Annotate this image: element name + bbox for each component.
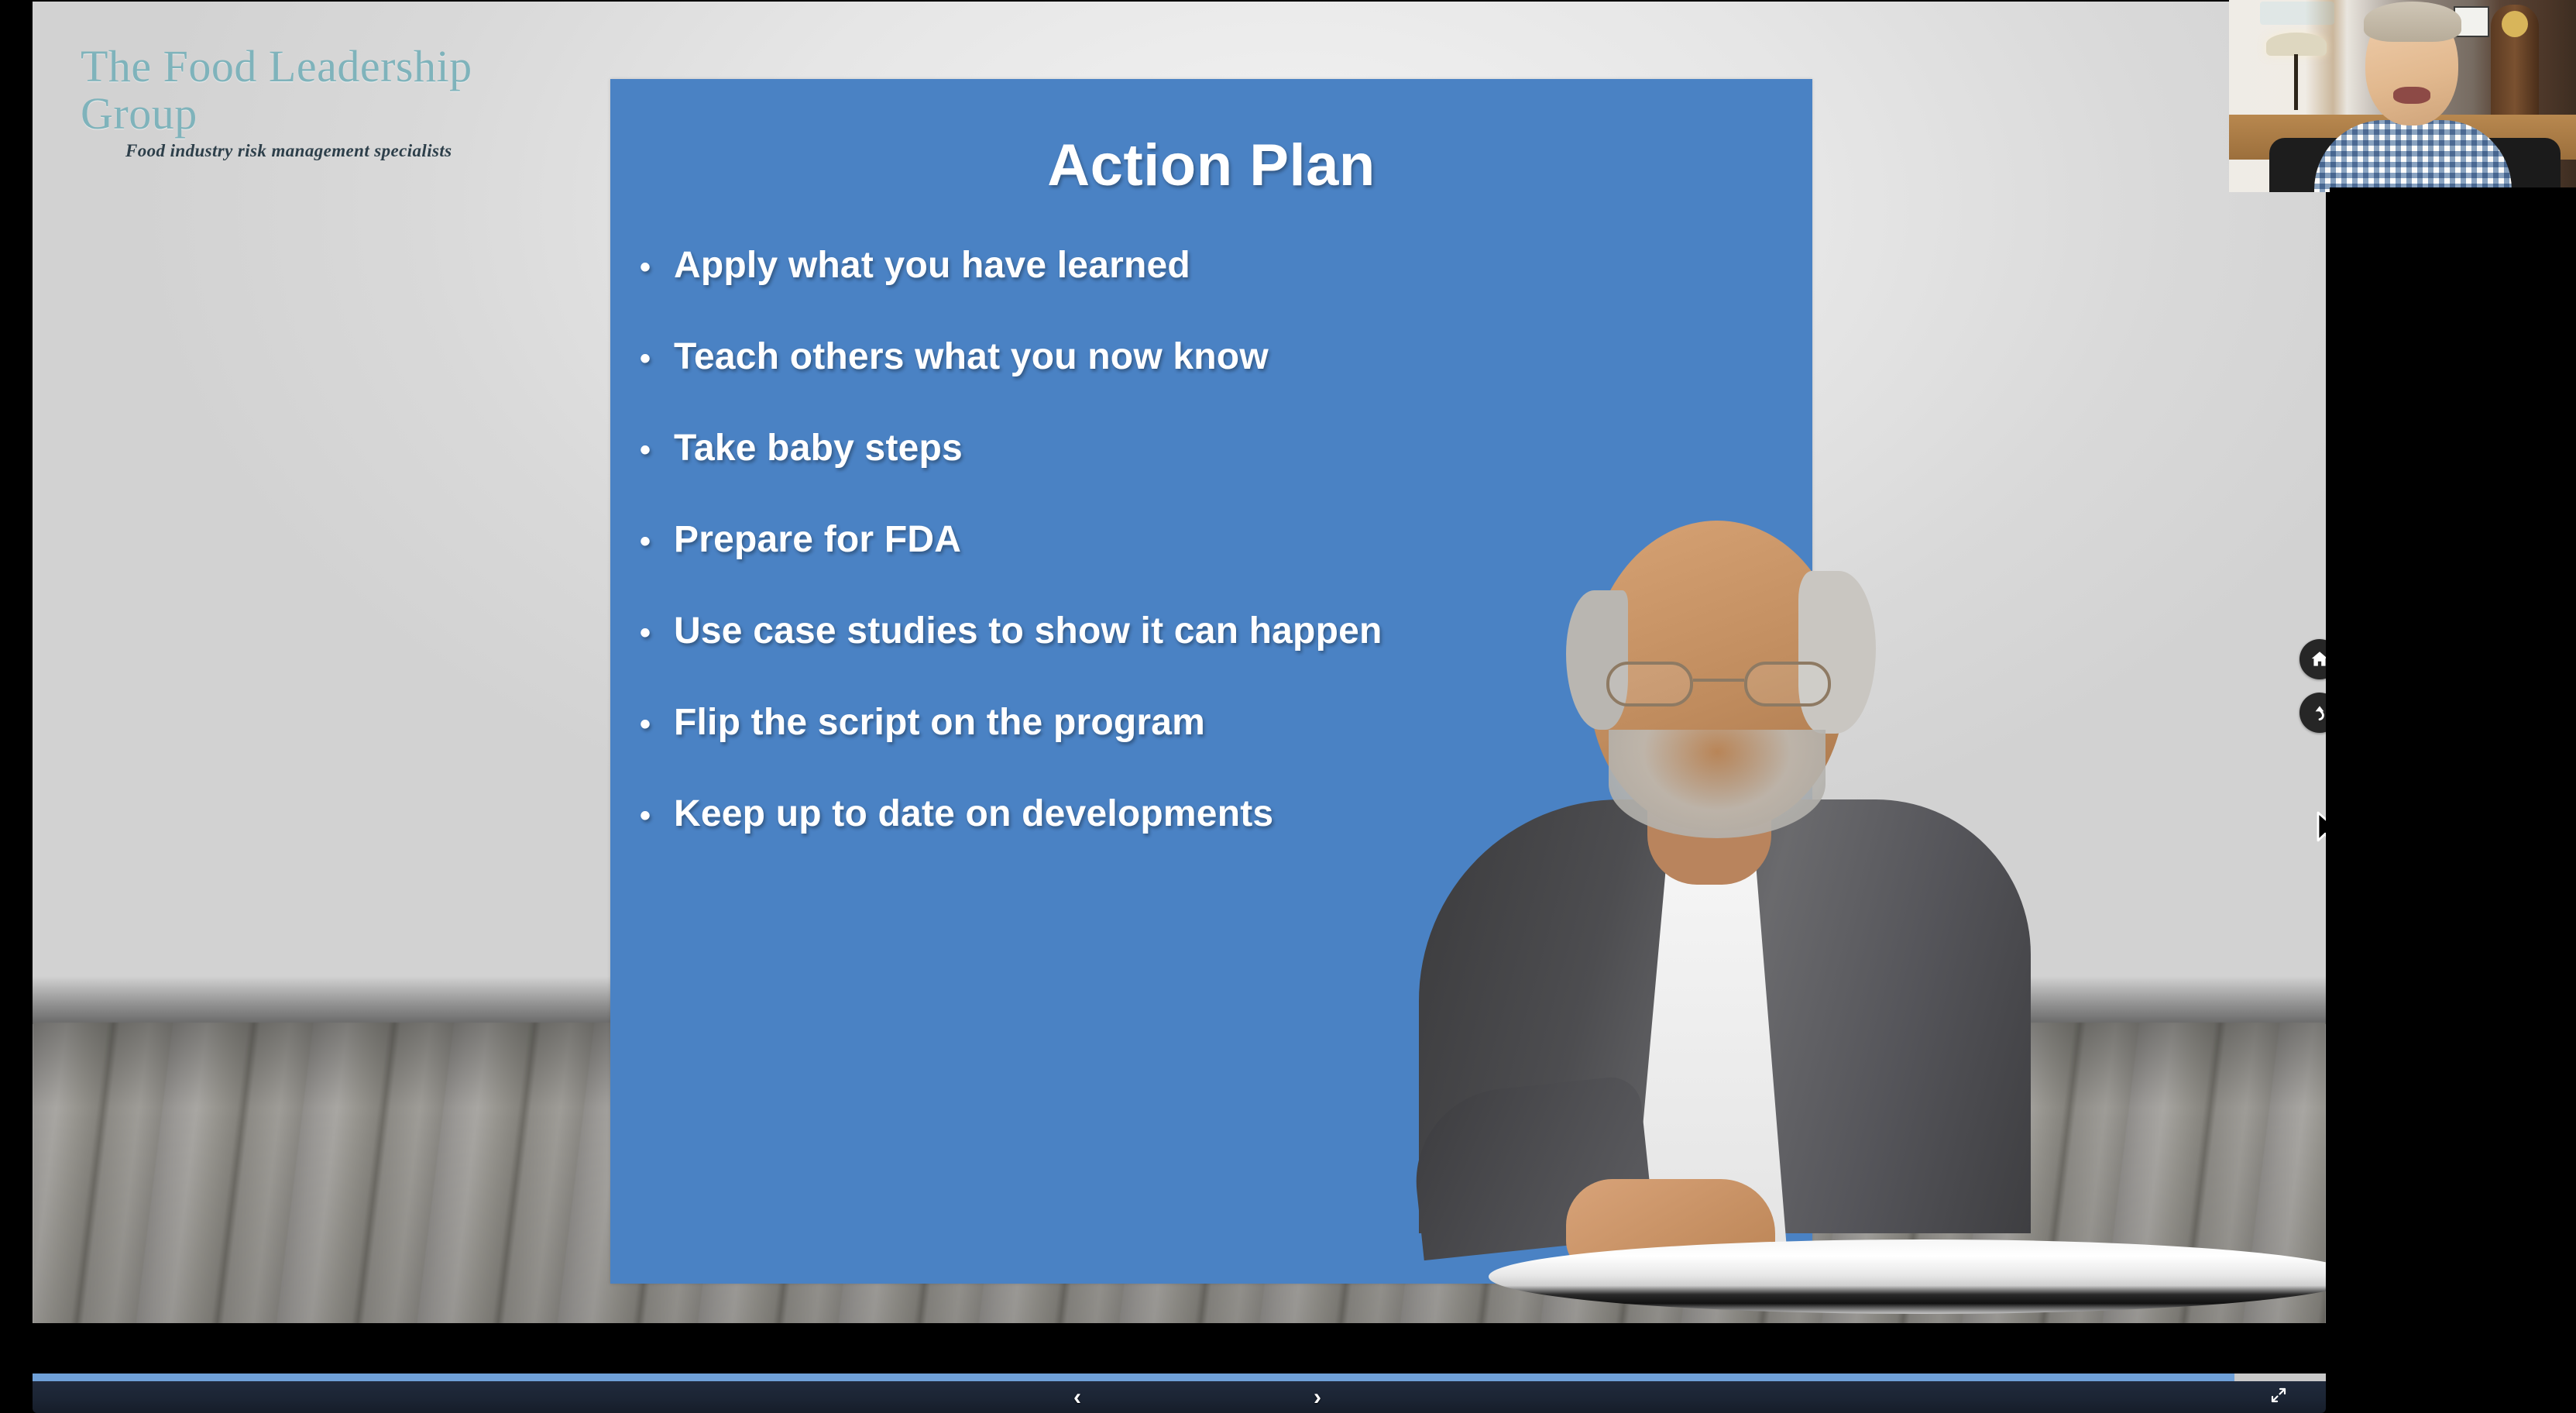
video-player-stage[interactable]: The Food Leadership Group Food industry … — [33, 2, 2326, 1323]
bullet-text: Flip the script on the program — [674, 701, 1205, 744]
next-slide-button[interactable]: › — [1295, 1381, 1340, 1413]
company-logo: The Food Leadership Group Food industry … — [81, 43, 561, 161]
bullet-dot-icon: • — [640, 343, 674, 374]
previous-slide-button[interactable]: ‹ — [1055, 1381, 1100, 1413]
bullet-text: Teach others what you now know — [674, 335, 1269, 378]
home-icon — [2310, 649, 2326, 669]
bullet-dot-icon: • — [640, 252, 674, 283]
bullet-item: • Take baby steps — [640, 427, 1812, 469]
video-progress-fill — [33, 1373, 2234, 1381]
bullet-text: Use case studies to show it can happen — [674, 610, 1382, 652]
webcam-pip-video[interactable] — [2229, 0, 2576, 192]
slide-title: Action Plan — [610, 132, 1812, 199]
screen-root: The Food Leadership Group Food industry … — [0, 0, 2576, 1413]
bullet-item: • Apply what you have learned — [640, 244, 1812, 287]
presenter-hair-right — [1798, 571, 1876, 734]
glasses-lens-left — [1606, 662, 1693, 706]
lamp-stem — [2294, 54, 2298, 110]
chevron-left-icon: ‹ — [1073, 1386, 1081, 1409]
bullet-dot-icon: • — [640, 617, 674, 648]
bullet-text: Keep up to date on developments — [674, 792, 1273, 835]
glasses-lens-right — [1744, 662, 1831, 706]
glasses-bridge — [1693, 679, 1744, 682]
fullscreen-button[interactable] — [2255, 1381, 2302, 1413]
glasses-icon — [1606, 662, 1831, 706]
grandfather-clock — [2491, 5, 2539, 129]
round-glass-table — [1489, 1239, 2326, 1323]
bullet-dot-icon: • — [640, 435, 674, 466]
bullet-dot-icon: • — [640, 526, 674, 557]
webcam-person-mouth — [2393, 87, 2430, 104]
table-top-surface — [1489, 1239, 2326, 1314]
curved-up-arrow-icon — [2310, 703, 2326, 723]
video-progress-bar[interactable] — [33, 1373, 2326, 1381]
logo-brand-text: The Food Leadership Group — [81, 43, 561, 138]
bullet-item: • Teach others what you now know — [640, 335, 1812, 378]
player-controls-bar: ‹ › — [33, 1381, 2326, 1413]
chevron-right-icon: › — [1314, 1386, 1321, 1409]
neon-sign — [2260, 2, 2334, 25]
logo-tagline-text: Food industry risk management specialist… — [81, 141, 561, 161]
fullscreen-expand-icon — [2269, 1386, 2288, 1408]
webcam-person-hair — [2364, 2, 2461, 42]
presenter-beard — [1609, 730, 1826, 838]
webcam-bottom-letterbox — [2330, 187, 2576, 192]
bullet-text: Apply what you have learned — [674, 244, 1190, 287]
presenter-hair-left — [1566, 590, 1628, 730]
lamp-shade — [2266, 33, 2327, 56]
bullet-text: Prepare for FDA — [674, 518, 961, 561]
bullet-text: Take baby steps — [674, 427, 963, 469]
presenter-person-image — [1334, 497, 2116, 1323]
clock-face — [2502, 11, 2528, 37]
bullet-dot-icon: • — [640, 709, 674, 740]
bullet-dot-icon: • — [640, 800, 674, 831]
